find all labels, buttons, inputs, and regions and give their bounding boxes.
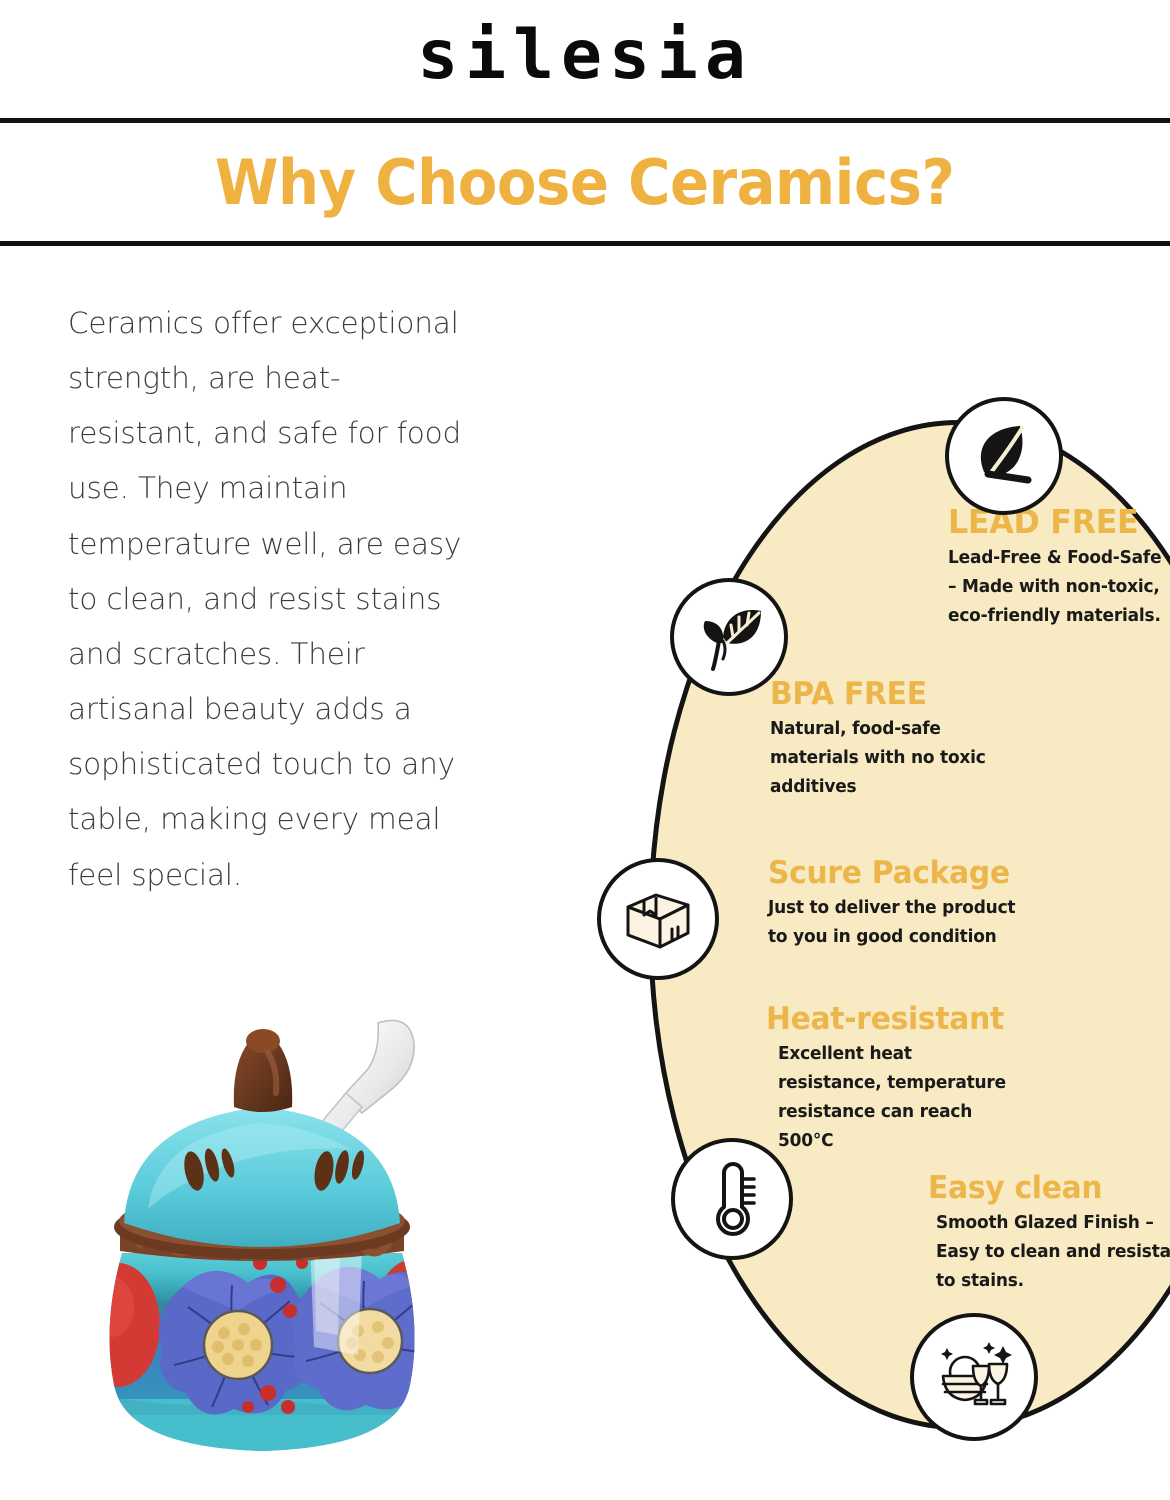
title-band: Why Choose Ceramics?: [0, 123, 1170, 241]
benefit-line: resistance can reach: [778, 1098, 1086, 1127]
benefit-title: BPA FREE: [770, 678, 1087, 711]
sugar-bowl-illustration: [62, 995, 462, 1475]
brand-wordmark: silesia: [417, 22, 753, 96]
benefit-lead-free: LEAD FREE Lead-Free & Food-Safe – Made w…: [948, 505, 1170, 631]
leaf-sprig-icon: [670, 578, 788, 696]
leaf-icon: [945, 397, 1063, 515]
bowl-lid: [114, 1029, 410, 1259]
benefit-heat-resistant: Heat-resistant Excellent heat resistance…: [766, 1003, 1096, 1156]
product-photo: [62, 995, 462, 1475]
benefit-line: eco-friendly materials.: [948, 602, 1170, 631]
page-title: Why Choose Ceramics?: [215, 146, 955, 219]
benefit-line: Natural, food-safe: [770, 715, 1090, 744]
benefit-line: resistance, temperature: [778, 1069, 1086, 1098]
benefit-line: Lead-Free & Food-Safe: [948, 544, 1170, 573]
benefit-line: to you in good condition: [768, 923, 1088, 952]
divider-rule-bottom: [0, 241, 1170, 246]
infographic-page: silesia Why Choose Ceramics? Ceramics of…: [0, 0, 1170, 1500]
benefit-line: Just to deliver the product: [768, 894, 1088, 923]
thermometer-icon: [671, 1138, 793, 1260]
benefit-easy-clean: Easy clean Smooth Glazed Finish – Easy t…: [928, 1172, 1170, 1296]
benefit-scure-package: Scure Package Just to deliver the produc…: [768, 857, 1098, 952]
benefit-line: materials with no toxic: [770, 744, 1090, 773]
clean-dishes-icon: [910, 1313, 1038, 1441]
benefit-line: Smooth Glazed Finish –: [936, 1209, 1170, 1238]
benefit-body: Excellent heat resistance, temperature r…: [778, 1040, 1086, 1156]
package-box-icon: [597, 858, 719, 980]
benefit-title: Scure Package: [768, 857, 1085, 890]
benefit-title: Easy clean: [928, 1172, 1170, 1205]
brand-bar: silesia: [0, 0, 1170, 118]
description-paragraph: Ceramics offer exceptional strength, are…: [68, 296, 468, 903]
benefit-bpa-free: BPA FREE Natural, food-safe materials wi…: [770, 678, 1100, 802]
benefit-body: Natural, food-safe materials with no tox…: [770, 715, 1090, 802]
benefit-line: Easy to clean and resistant: [936, 1238, 1170, 1267]
benefit-line: – Made with non-toxic,: [948, 573, 1170, 602]
benefit-line: additives: [770, 773, 1090, 802]
benefit-line: 500°C: [778, 1127, 1086, 1156]
bowl-body: [76, 1235, 454, 1459]
benefit-line: Excellent heat: [778, 1040, 1086, 1069]
benefit-body: Just to deliver the product to you in go…: [768, 894, 1088, 952]
benefit-body: Lead-Free & Food-Safe – Made with non-to…: [948, 544, 1170, 631]
benefit-body: Smooth Glazed Finish – Easy to clean and…: [936, 1209, 1170, 1296]
benefit-title: Heat-resistant: [766, 1003, 1083, 1036]
benefit-line: to stains.: [936, 1267, 1170, 1296]
